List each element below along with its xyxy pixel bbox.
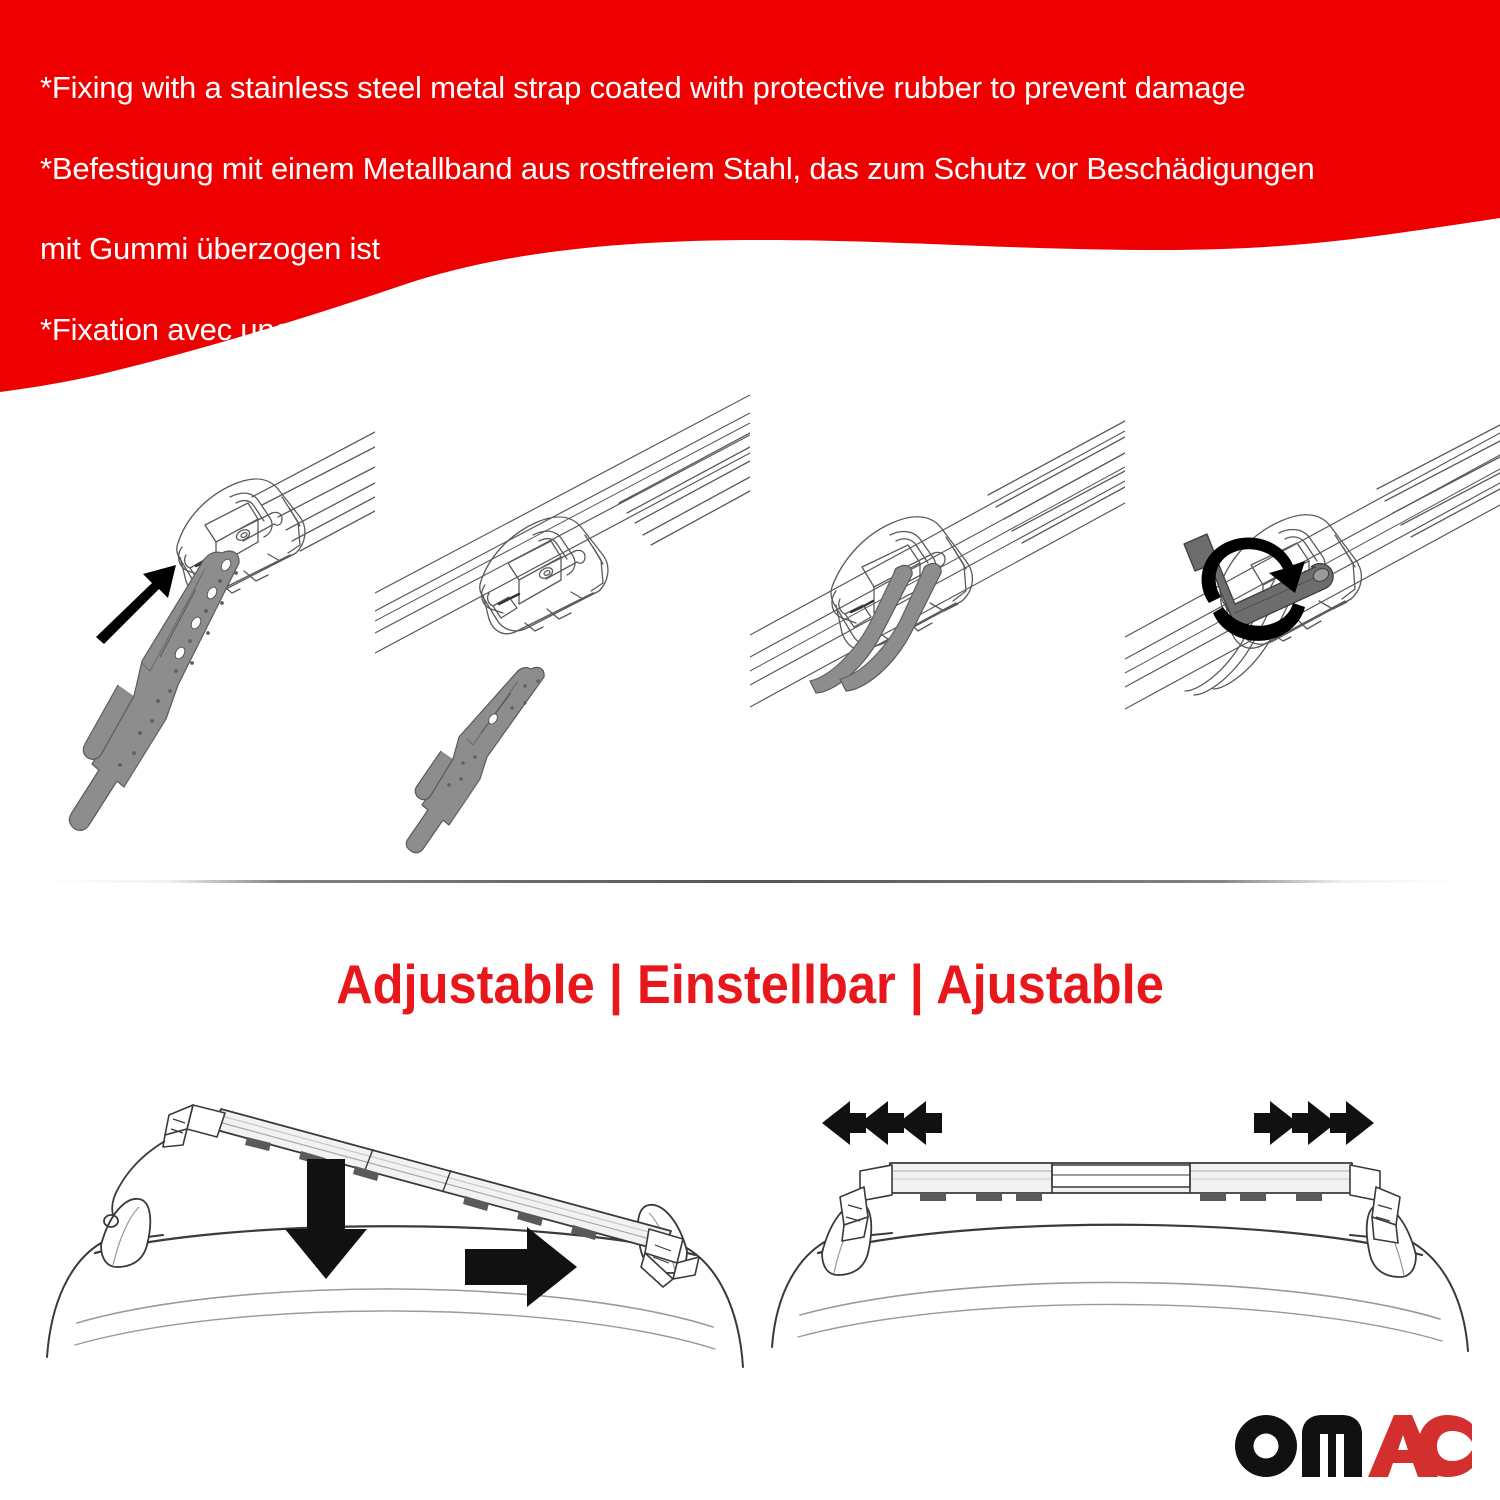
step-1-insert-strap <box>0 385 375 855</box>
foot-on-rail-icon <box>375 385 750 855</box>
place-crossbar-illustration <box>35 1075 755 1375</box>
insert-strap-arrow-icon <box>0 385 375 855</box>
diagram-place-crossbar <box>35 1075 755 1375</box>
triple-right-arrow-icon <box>1254 1101 1374 1145</box>
bottom-diagrams <box>0 1075 1500 1375</box>
banner-line-de-2: mit Gummi überzogen ist <box>40 229 1460 269</box>
omac-logo <box>1232 1410 1472 1480</box>
page-root: *Fixing with a stainless steel metal str… <box>0 0 1500 1500</box>
logo-letter-m <box>1302 1415 1362 1477</box>
metal-strap <box>406 667 544 852</box>
logo-letter-c <box>1418 1415 1472 1477</box>
installation-steps <box>0 385 1500 855</box>
banner-line-fr-1: *Fixation avec une sangle en métal inoxy… <box>40 310 1460 350</box>
step-2-foot-on-rail <box>375 385 750 855</box>
red-banner: *Fixing with a stainless steel metal str… <box>0 0 1500 400</box>
diagram-adjust-width <box>760 1075 1480 1375</box>
down-arrow-icon <box>285 1159 367 1279</box>
adjust-width-illustration <box>760 1075 1480 1375</box>
strap-wrapped-icon <box>750 385 1125 855</box>
banner-line-de-1: *Befestigung mit einem Metallband aus ro… <box>40 149 1460 189</box>
logo-letter-o <box>1235 1415 1297 1477</box>
triple-left-arrow-icon <box>822 1101 942 1145</box>
adjustable-heading: Adjustable | Einstellbar | Ajustable <box>60 952 1440 1016</box>
banner-line-en: *Fixing with a stainless steel metal str… <box>40 68 1460 108</box>
right-arrow-icon <box>465 1227 577 1307</box>
step-4-tighten-bolt <box>1125 385 1500 855</box>
omac-logo-mark <box>1232 1410 1472 1480</box>
tighten-rotation-icon <box>1125 385 1500 855</box>
step-3-strap-wrapped <box>750 385 1125 855</box>
section-divider <box>40 880 1460 883</box>
